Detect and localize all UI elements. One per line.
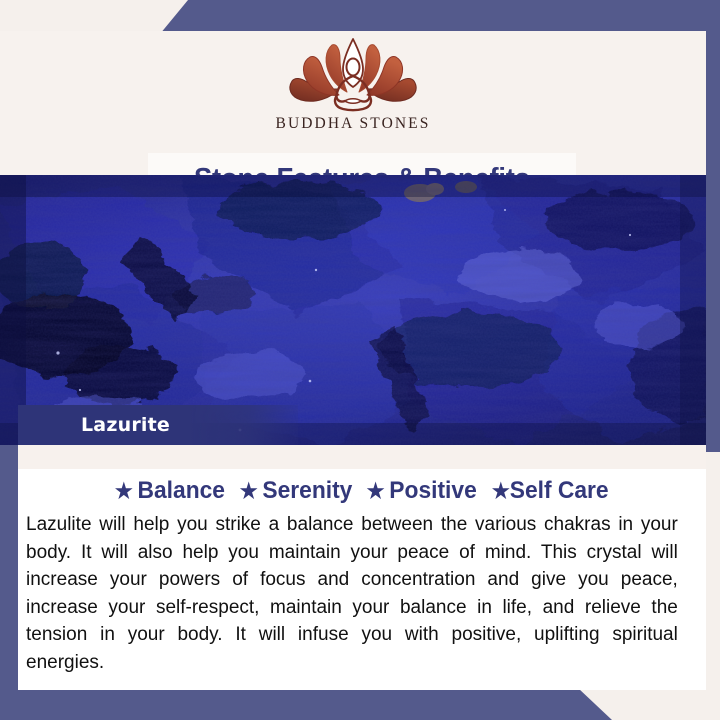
benefit-label: Self Care — [510, 477, 609, 505]
benefit-item: ★ Balance — [115, 477, 225, 505]
left-decorative-band — [0, 445, 18, 695]
star-icon: ★ — [367, 481, 385, 502]
benefit-item: ★ Serenity — [231, 477, 352, 505]
stone-name-banner: Lazurite — [18, 405, 298, 445]
brand-name: BUDDHA STONES — [276, 115, 431, 133]
content-top-fade — [18, 445, 706, 469]
benefit-label: Serenity — [262, 477, 352, 505]
brand-logo: BUDDHA STONES — [0, 31, 706, 139]
stone-name: Lazurite — [81, 414, 170, 436]
benefit-label: Balance — [137, 477, 224, 505]
benefits-row: ★ Balance ★ Serenity ★ Positive ★ Self C… — [18, 477, 706, 505]
infographic-frame: BUDDHA STONES Stone Features & Benefits — [0, 0, 720, 720]
lotus-meditation-icon — [277, 37, 429, 113]
bottom-decorative-band — [0, 688, 720, 720]
header: BUDDHA STONES Stone Features & Benefits — [0, 31, 706, 175]
star-icon: ★ — [115, 481, 133, 502]
star-icon: ★ — [492, 481, 510, 502]
right-decorative-band — [706, 0, 720, 452]
star-icon: ★ — [240, 481, 258, 502]
content-panel: ★ Balance ★ Serenity ★ Positive ★ Self C… — [18, 445, 706, 690]
benefit-item: ★ Self Care — [484, 477, 609, 505]
benefit-label: Positive — [390, 477, 477, 505]
stone-description: Lazulite will help you strike a balance … — [26, 511, 678, 676]
benefit-item: ★ Positive — [358, 477, 477, 505]
